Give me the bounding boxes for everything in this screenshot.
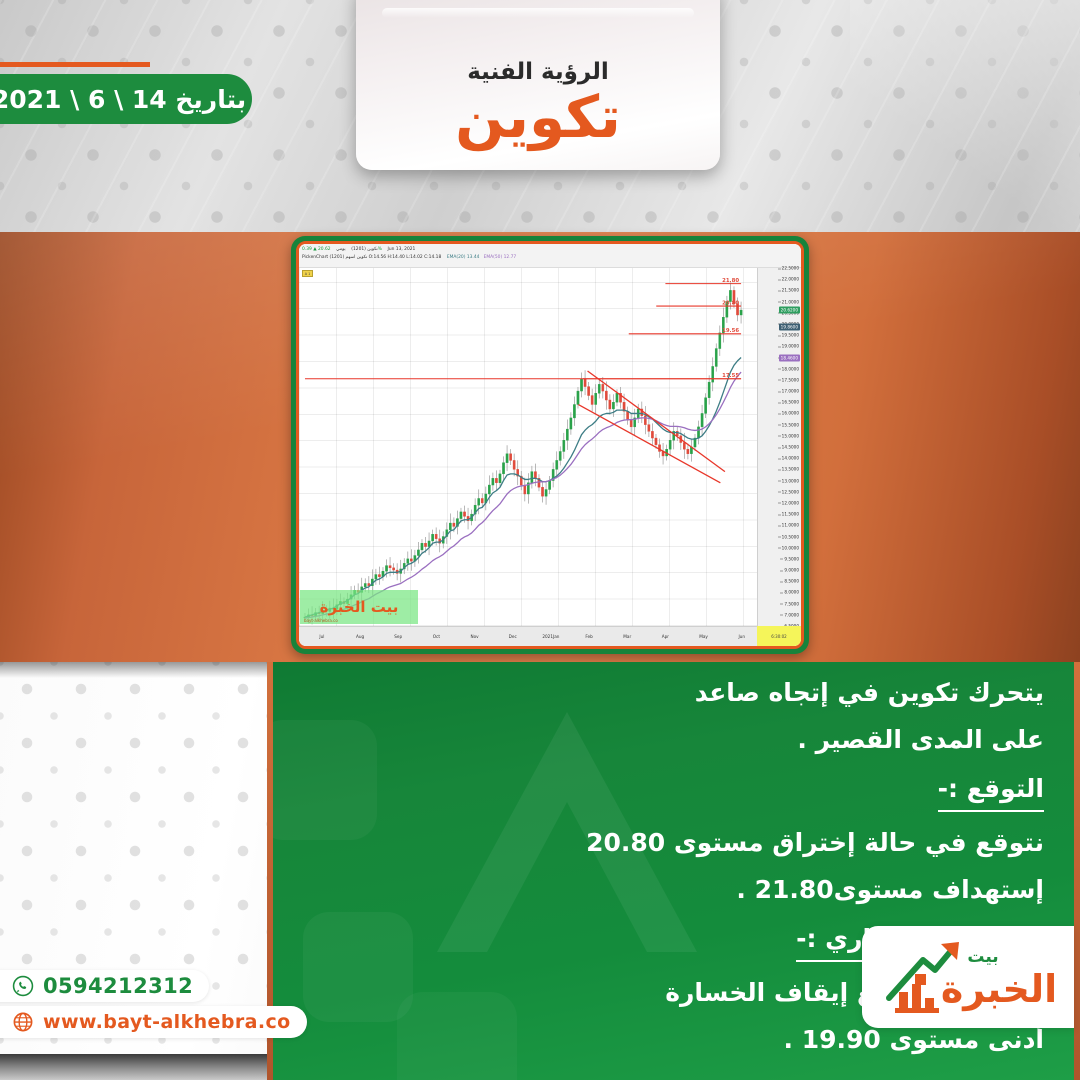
price-tick: 19.5000 bbox=[782, 333, 799, 338]
stock-chart[interactable]: تكوين (1201) يومي 20.62 ▲ 0.39% Jun 13, … bbox=[299, 244, 801, 646]
svg-text:19.56: 19.56 bbox=[722, 328, 739, 334]
time-tick: Jul bbox=[319, 634, 324, 639]
time-tick: May bbox=[699, 634, 708, 639]
time-tick: Aug bbox=[356, 634, 364, 639]
time-tick: Nov bbox=[470, 634, 478, 639]
svg-text:بيت: بيت bbox=[967, 947, 998, 967]
chart-legend-ema20-name: EMA(20) bbox=[447, 255, 466, 260]
time-scale[interactable]: JulAugSepOctNovDec2021JanFebMarAprMayJun bbox=[299, 626, 757, 646]
price-tick: 7.0000 bbox=[784, 612, 799, 617]
chart-annotations-svg: 21.8020.8019.5617.55 bbox=[299, 268, 757, 626]
corner-sheen bbox=[850, 0, 1080, 240]
price-tick: 14.5000 bbox=[782, 445, 799, 450]
price-tick: 19.0000 bbox=[782, 344, 799, 349]
time-tick: Dec bbox=[509, 634, 517, 639]
chart-legend-ema20-value: 13.44 bbox=[467, 255, 480, 260]
chart-container[interactable]: تكوين (1201) يومي 20.62 ▲ 0.39% Jun 13, … bbox=[296, 241, 804, 649]
price-tick: 22.0000 bbox=[782, 277, 799, 282]
price-tick: 9.5000 bbox=[784, 556, 799, 561]
price-tick: 16.0000 bbox=[782, 411, 799, 416]
chart-date: Jun 13, 2021 bbox=[388, 247, 416, 252]
price-tick: 7.5000 bbox=[784, 601, 799, 606]
svg-text:21.80: 21.80 bbox=[722, 278, 739, 284]
price-tick: 22.5000 bbox=[782, 266, 799, 271]
time-tick: Mar bbox=[623, 634, 631, 639]
price-marker-pill: 20.6200 bbox=[779, 307, 800, 314]
website-contact-pill[interactable]: www.bayt-alkhebra.co bbox=[0, 1006, 307, 1038]
price-marker-pill: 18.4600 bbox=[779, 355, 800, 362]
time-tick: Sep bbox=[394, 634, 402, 639]
date-badge-label: بتاريخ 14 \ 6 \ 2021 bbox=[0, 85, 246, 114]
price-tick: 9.0000 bbox=[784, 568, 799, 573]
price-tick: 11.5000 bbox=[782, 512, 799, 517]
chart-series-title: PickenChart تكوين اسهم (1201) O:14.56 H:… bbox=[302, 255, 441, 260]
chart-clock: 6:30:02 bbox=[757, 626, 801, 646]
chart-watermark-text: بيت الخبرة bbox=[320, 598, 399, 616]
globe-icon bbox=[12, 1011, 34, 1033]
price-tick: 12.0000 bbox=[782, 500, 799, 505]
svg-text:20.80: 20.80 bbox=[722, 301, 739, 307]
price-tick: 10.0000 bbox=[782, 545, 799, 550]
date-badge: بتاريخ 14 \ 6 \ 2021 bbox=[0, 74, 252, 124]
price-tick: 8.5000 bbox=[784, 579, 799, 584]
analysis-line: يتحرك تكوين في إتجاه صاعد bbox=[307, 680, 1044, 705]
chart-watermark-sub: bayt-alkhebra.co bbox=[304, 618, 338, 623]
chart-watermark: بيت الخبرة bayt-alkhebra.co bbox=[300, 590, 418, 624]
growth-arrow-house-icon: بيت الخبرة bbox=[879, 936, 1057, 1018]
price-tick: 16.5000 bbox=[782, 400, 799, 405]
brand-logo-card[interactable]: بيت الخبرة bbox=[862, 926, 1074, 1028]
title-card: الرؤية الفنية تكوين bbox=[356, 0, 720, 170]
svg-text:الخبرة: الخبرة bbox=[941, 967, 1057, 1011]
whatsapp-number: 0594212312 bbox=[43, 974, 193, 998]
price-tick: 11.0000 bbox=[782, 523, 799, 528]
price-tick: 10.5000 bbox=[782, 534, 799, 539]
page-title: تكوين bbox=[455, 89, 621, 146]
whatsapp-icon bbox=[12, 975, 34, 997]
analysis-heading: التوقع :- bbox=[938, 774, 1044, 812]
chart-up-triangle-icon: ▲ bbox=[313, 247, 316, 252]
analysis-line: أدنى مستوى 19.90 . bbox=[307, 1027, 1044, 1052]
time-tick: Jun bbox=[738, 634, 745, 639]
chart-last-price: 20.62 bbox=[318, 247, 331, 252]
chart-legend-ema50-value: 12.77 bbox=[504, 255, 517, 260]
website-url: www.bayt-alkhebra.co bbox=[43, 1011, 291, 1033]
time-tick: Apr bbox=[662, 634, 669, 639]
whatsapp-contact-pill[interactable]: 0594212312 bbox=[0, 970, 209, 1002]
price-tick: 15.0000 bbox=[782, 433, 799, 438]
banner-subtitle: الرؤية الفنية bbox=[467, 59, 609, 85]
time-tick: Feb bbox=[585, 634, 592, 639]
price-scale[interactable]: 22.500022.000021.500021.000020.500020.00… bbox=[757, 268, 801, 626]
price-tick: 18.0000 bbox=[782, 366, 799, 371]
chart-plot-area[interactable]: 21.8020.8019.5617.55 bbox=[299, 268, 757, 626]
price-tick: 8.0000 bbox=[784, 590, 799, 595]
price-marker-pill: 19.8600 bbox=[779, 324, 800, 331]
time-tick: 2021Jan bbox=[542, 634, 559, 639]
time-tick: Oct bbox=[433, 634, 440, 639]
price-tick: 17.5000 bbox=[782, 377, 799, 382]
price-tick: 21.5000 bbox=[782, 288, 799, 293]
price-tick: 13.5000 bbox=[782, 467, 799, 472]
date-accent-rule bbox=[0, 62, 150, 67]
chart-symbol: تكوين (1201) bbox=[351, 247, 378, 252]
analysis-line: على المدى القصير . bbox=[307, 727, 1044, 752]
chart-legend-ema50-name: EMA(50) bbox=[484, 255, 503, 260]
price-tick: 13.0000 bbox=[782, 478, 799, 483]
chart-interval: يومي bbox=[336, 247, 346, 252]
panel-right-stripe bbox=[1074, 662, 1080, 1080]
price-tick: 17.0000 bbox=[782, 389, 799, 394]
price-tick: 21.0000 bbox=[782, 299, 799, 304]
price-tick: 14.0000 bbox=[782, 456, 799, 461]
price-tick: 15.5000 bbox=[782, 422, 799, 427]
analysis-heading-row: التوقع :- bbox=[307, 774, 1044, 830]
chart-header: تكوين (1201) يومي 20.62 ▲ 0.39% Jun 13, … bbox=[299, 244, 801, 268]
analysis-line: إستهداف مستوى21.80 . bbox=[307, 877, 1044, 902]
analysis-line: نتوقع في حالة إختراق مستوى 20.80 bbox=[307, 830, 1044, 855]
card-sheen bbox=[382, 8, 694, 18]
price-tick: 12.5000 bbox=[782, 489, 799, 494]
